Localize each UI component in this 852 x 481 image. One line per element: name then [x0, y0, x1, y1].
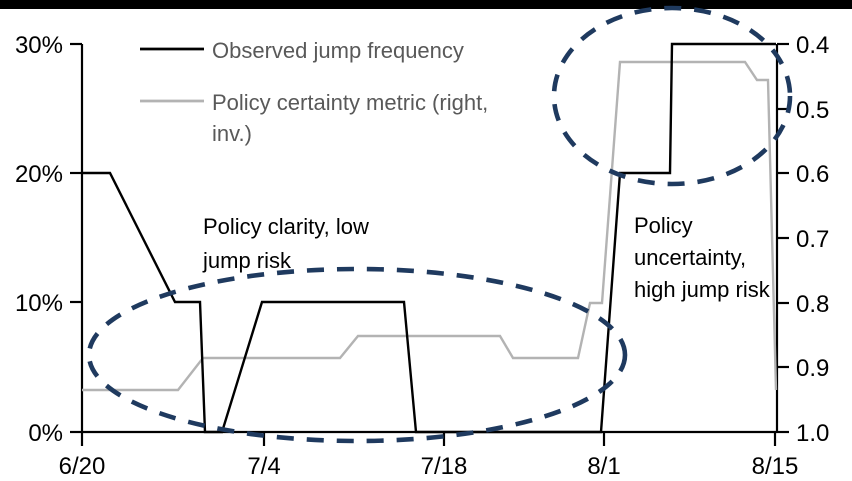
legend-label-policy-certainty-metric-line2: inv.)	[212, 121, 252, 146]
annotation-text-low-risk: Policy clarity, low jump risk	[202, 214, 369, 273]
chart-figure: 30% 20% 10% 0% 0.4 0.5 0.6 0.7 0.8 0.9 1…	[0, 0, 852, 481]
left-axis-tick-30: 30%	[15, 32, 63, 59]
annotation-low-risk-line-1: Policy clarity, low	[203, 214, 369, 239]
x-axis-tick-7-4: 7/4	[247, 453, 280, 480]
right-axis-tick-0-5: 0.5	[796, 97, 829, 124]
top-divider-rule	[0, 0, 852, 9]
right-axis-tick-0-6: 0.6	[796, 161, 829, 188]
right-axis: 0.4 0.5 0.6 0.7 0.8 0.9 1.0	[777, 32, 829, 447]
annotation-low-risk-line-2: jump risk	[202, 248, 292, 273]
right-axis-tick-1-0: 1.0	[796, 420, 829, 447]
right-axis-tick-0-7: 0.7	[796, 226, 829, 253]
right-axis-tick-0-8: 0.8	[796, 291, 829, 318]
left-axis: 30% 20% 10% 0%	[15, 32, 82, 447]
x-axis-tick-8-15: 8/15	[752, 453, 799, 480]
annotation-ellipse-low-risk	[89, 269, 625, 441]
x-axis-tick-8-1: 8/1	[587, 453, 620, 480]
chart-canvas: 30% 20% 10% 0% 0.4 0.5 0.6 0.7 0.8 0.9 1…	[0, 0, 852, 481]
legend: Observed jump frequency Policy certainty…	[140, 38, 488, 146]
left-axis-tick-10: 10%	[15, 290, 63, 317]
x-axis-tick-6-20: 6/20	[59, 453, 106, 480]
annotation-high-risk-line-2: uncertainty,	[634, 245, 746, 270]
annotation-high-risk-line-3: high jump risk	[634, 277, 771, 302]
left-axis-tick-20: 20%	[15, 161, 63, 188]
right-axis-tick-0-4: 0.4	[796, 32, 829, 59]
legend-label-observed-jump-frequency: Observed jump frequency	[212, 38, 464, 63]
right-axis-tick-0-9: 0.9	[796, 355, 829, 382]
x-axis-tick-7-18: 7/18	[421, 453, 468, 480]
annotation-text-high-risk: Policy uncertainty, high jump risk	[634, 213, 771, 302]
annotation-high-risk-line-1: Policy	[634, 213, 693, 238]
left-axis-tick-0: 0%	[28, 420, 63, 447]
legend-label-policy-certainty-metric-line1: Policy certainty metric (right,	[212, 90, 488, 115]
